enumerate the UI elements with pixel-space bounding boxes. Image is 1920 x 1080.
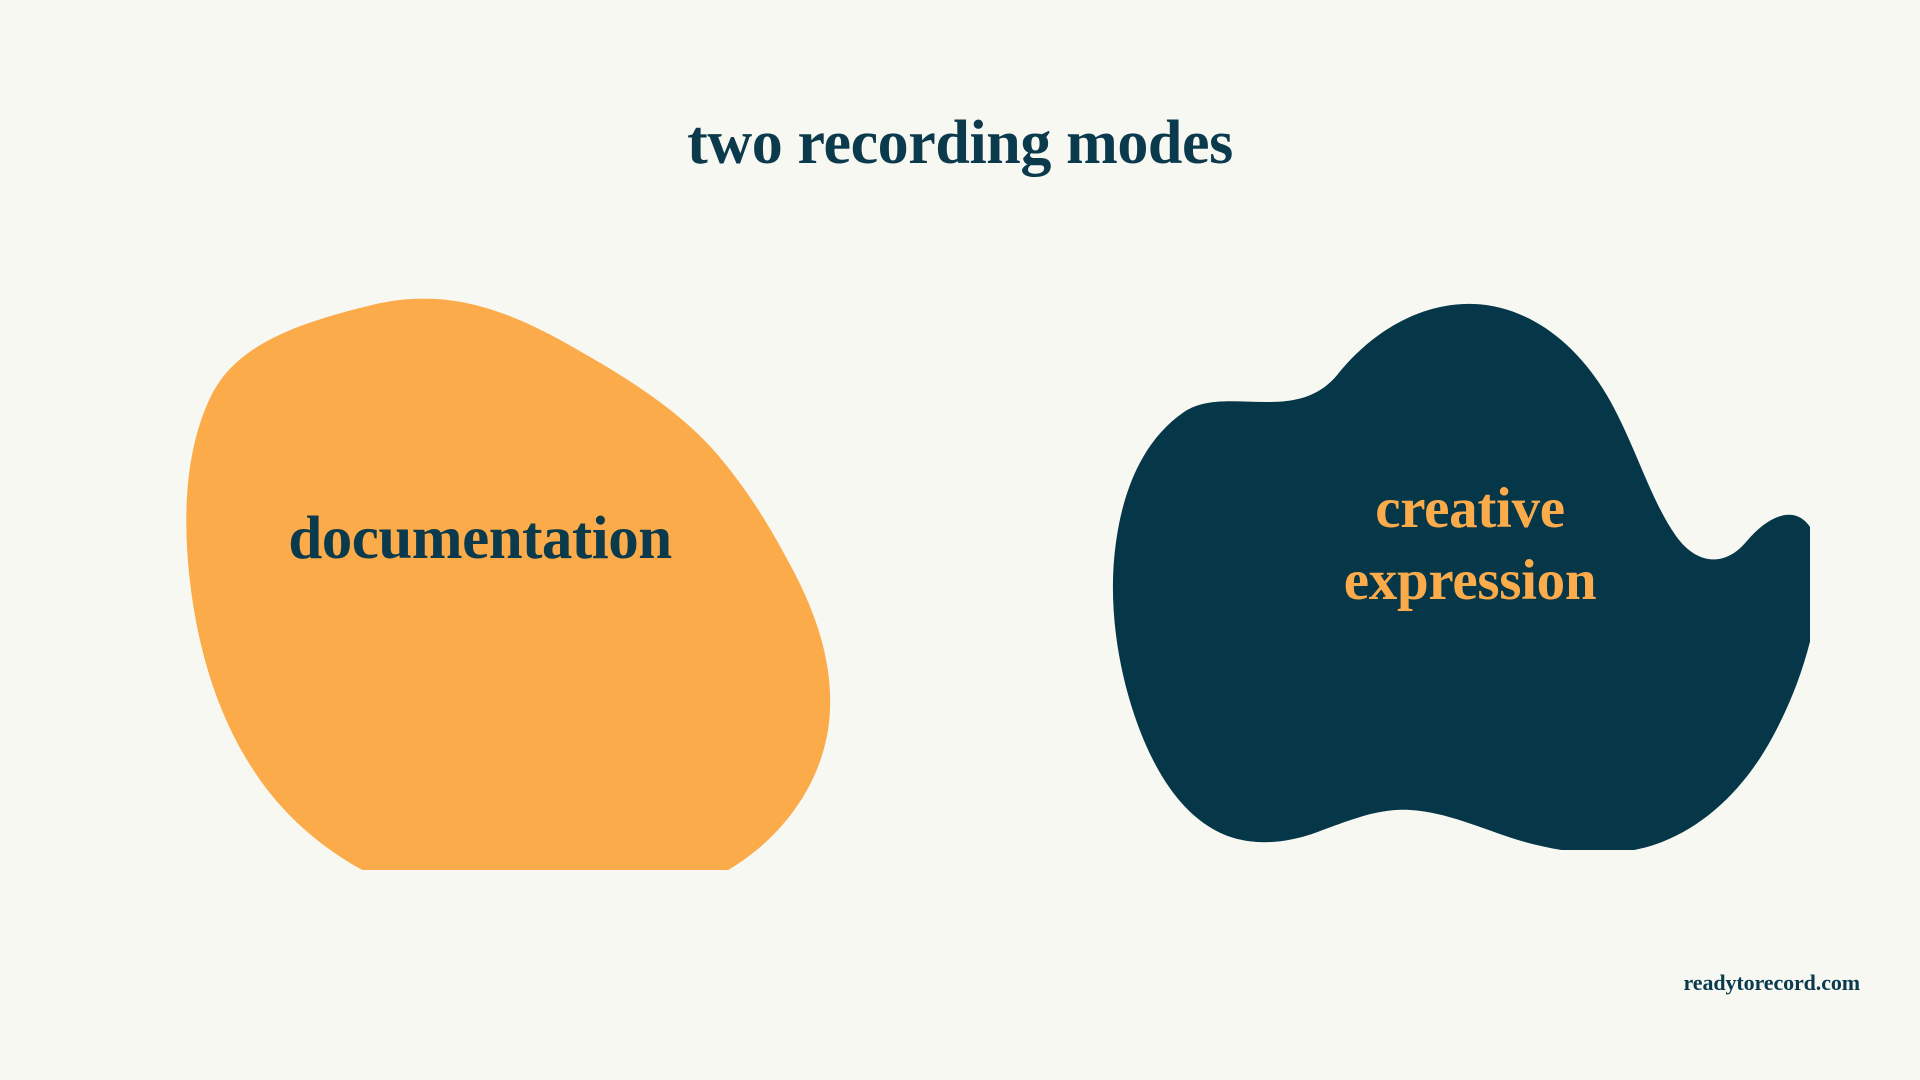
creative-expression-label-line-1: creative <box>1150 480 1790 538</box>
creative-expression-label: creative expression <box>1150 480 1790 610</box>
slide-canvas: two recording modes documentation creati… <box>0 0 1920 1080</box>
blob-stage: documentation creative expression <box>0 0 1920 1080</box>
documentation-blob-path <box>186 299 830 870</box>
creative-expression-label-line-2: expression <box>1150 552 1790 610</box>
documentation-label: documentation <box>150 508 810 570</box>
footer-url: readytorecord.com <box>1684 970 1860 996</box>
